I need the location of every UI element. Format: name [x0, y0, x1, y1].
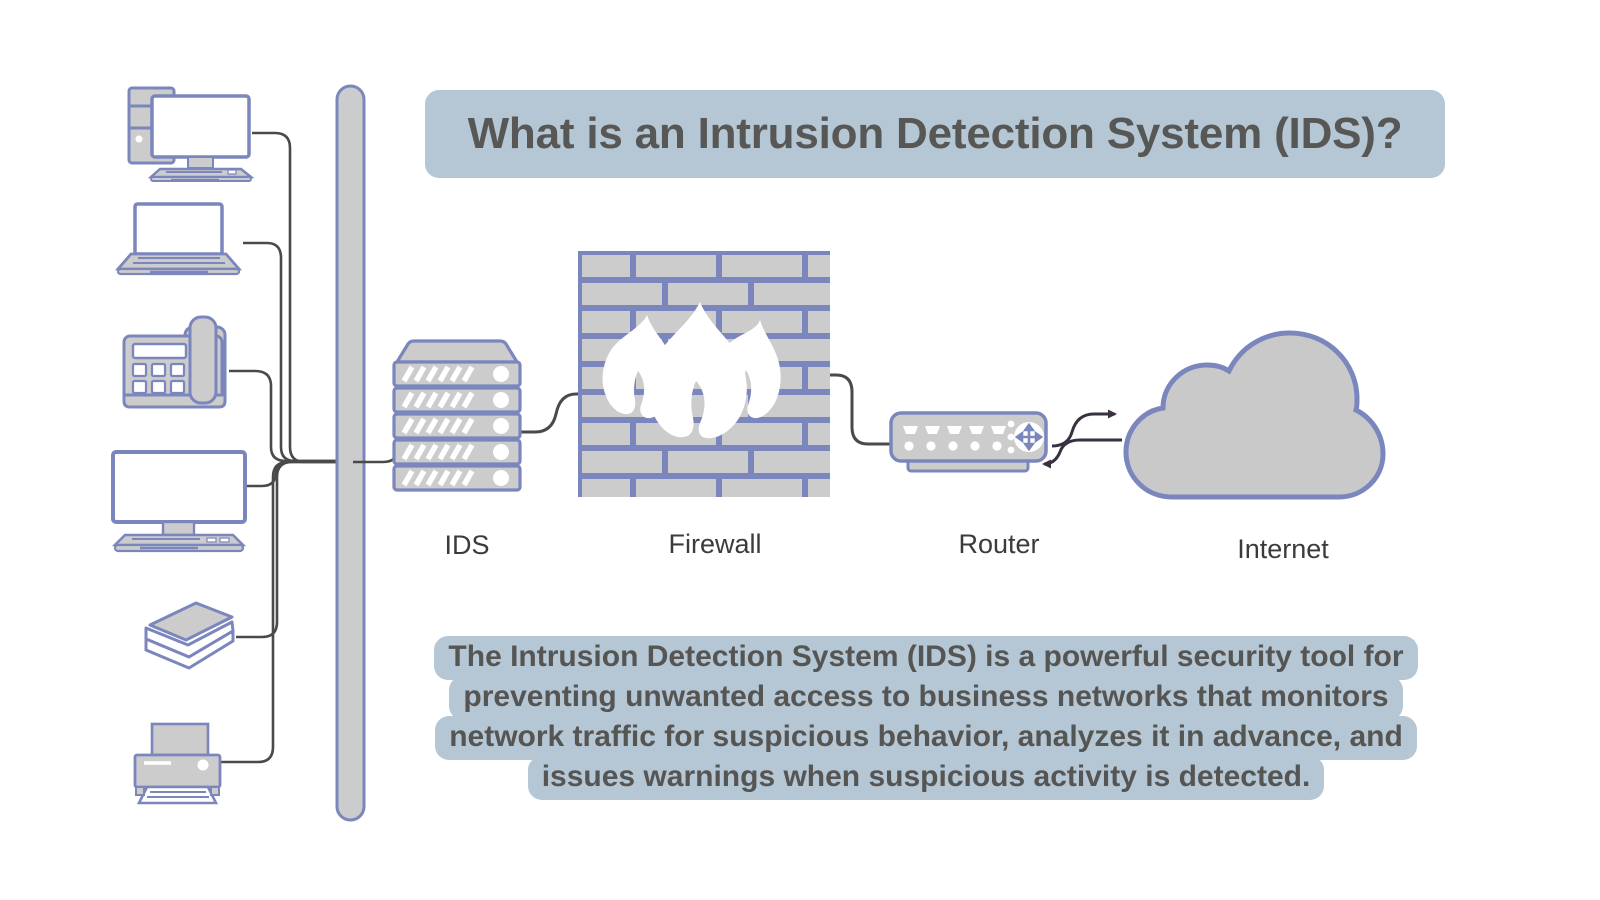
brick-wall-flame-icon	[578, 251, 856, 497]
network-backbone	[337, 86, 364, 820]
description-line: The Intrusion Detection System (IDS) is …	[434, 636, 1417, 680]
cable-monitor	[246, 461, 348, 486]
monitor-keyboard-icon	[113, 452, 245, 551]
page-title: What is an Intrusion Detection System (I…	[468, 109, 1403, 159]
node-label-firewall: Firewall	[668, 529, 761, 560]
description-line: preventing unwanted access to business n…	[449, 676, 1402, 720]
laptop-icon	[118, 204, 239, 274]
node-label-router: Router	[958, 529, 1039, 560]
cable-scanner	[236, 462, 348, 637]
desktop-computer-icon	[129, 88, 251, 181]
title-banner: What is an Intrusion Detection System (I…	[425, 90, 1445, 178]
desk-phone-icon	[124, 317, 225, 407]
description-line: issues warnings when suspicious activity…	[528, 756, 1325, 800]
server-stack-icon	[394, 341, 520, 490]
arrow-from-internet	[1044, 440, 1122, 464]
cable-phone	[229, 371, 348, 461]
cable-laptop	[243, 243, 348, 461]
node-label-ids: IDS	[444, 530, 489, 561]
printer-icon	[135, 724, 220, 803]
cable-desktop	[252, 133, 348, 462]
router-internet-arrows	[1044, 414, 1122, 464]
description-block: The Intrusion Detection System (IDS) is …	[390, 638, 1462, 798]
router-icon	[891, 413, 1046, 471]
node-label-internet: Internet	[1237, 534, 1329, 565]
flatbed-scanner-icon	[146, 603, 233, 668]
cloud-icon	[1126, 333, 1383, 497]
endpoint-cables	[215, 133, 348, 762]
diagram-canvas: What is an Intrusion Detection System (I…	[0, 0, 1600, 900]
description-line: network traffic for suspicious behavior,…	[435, 716, 1417, 760]
